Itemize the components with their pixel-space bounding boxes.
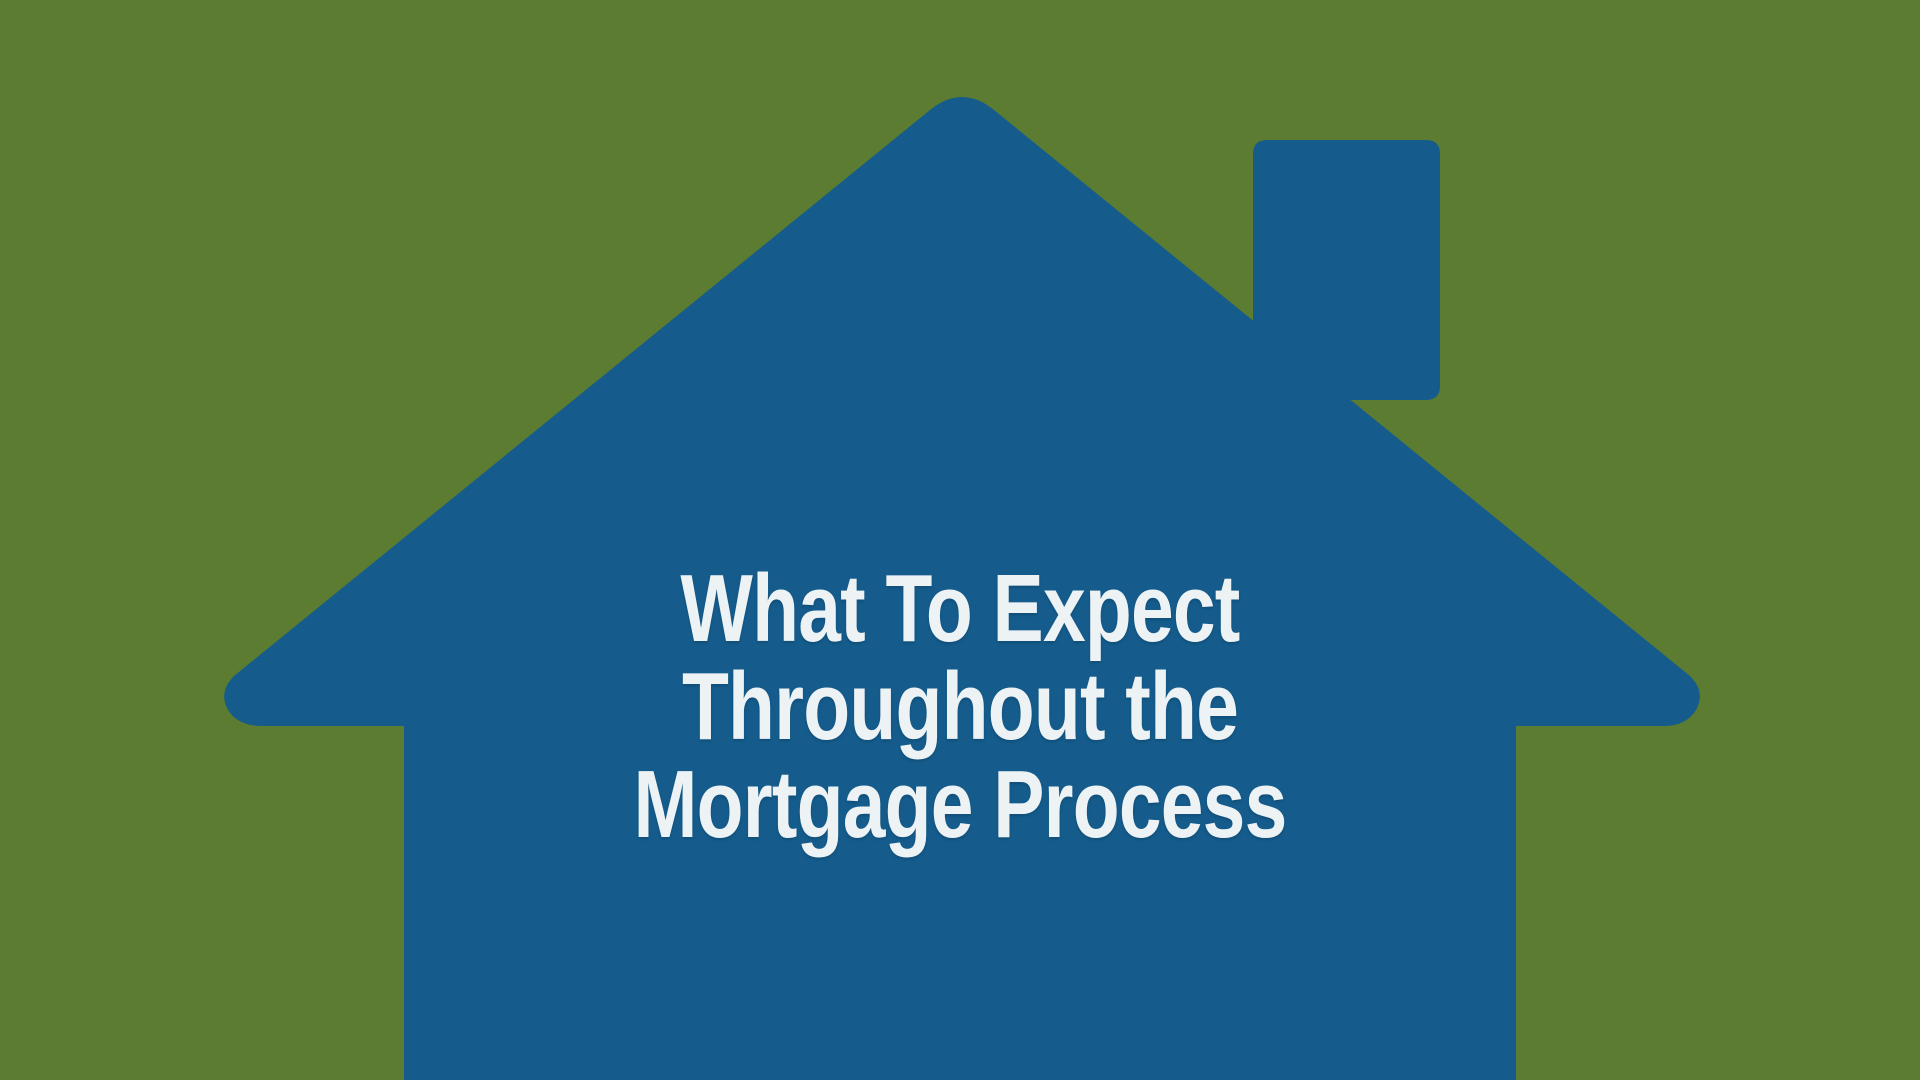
slide-canvas: What To Expect Throughout the Mortgage P… — [0, 0, 1920, 1080]
house-body — [404, 700, 1516, 1080]
roof — [224, 97, 1700, 726]
house-illustration — [0, 0, 1920, 1080]
